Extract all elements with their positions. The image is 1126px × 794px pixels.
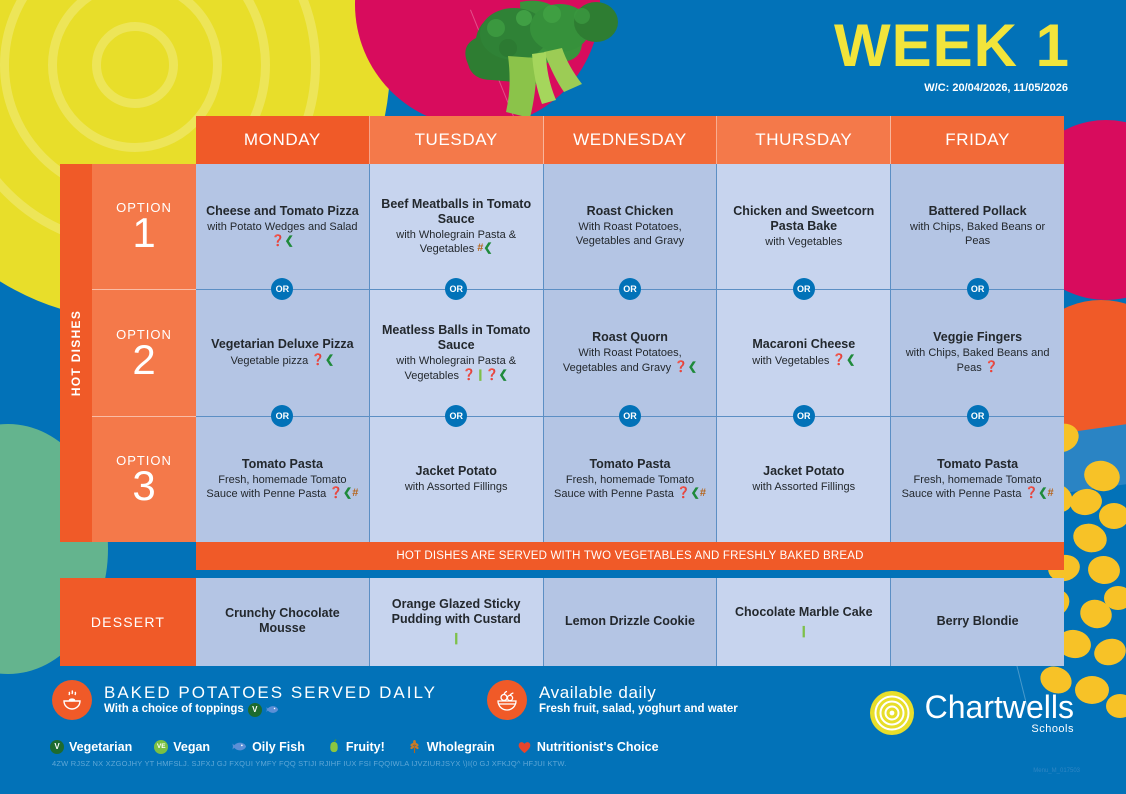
diet-mark-v: ❓ bbox=[677, 487, 691, 499]
option-number-1: 1 bbox=[132, 213, 155, 253]
dish-description: Fresh, homemade Tomato Sauce with Penne … bbox=[553, 474, 708, 502]
diet-mark-v: ❓ bbox=[674, 361, 688, 373]
menu-cell[interactable]: Tomato PastaFresh, homemade Tomato Sauce… bbox=[544, 417, 718, 542]
dish-name: Roast Chicken bbox=[587, 204, 674, 219]
diet-mark-v: ❓ bbox=[462, 369, 476, 381]
or-badge: OR bbox=[967, 278, 989, 300]
key-wholegrain: Wholegrain bbox=[407, 739, 495, 754]
diet-mark-v: ❓ bbox=[832, 354, 846, 366]
dessert-cell[interactable]: Crunchy Chocolate Mousse bbox=[196, 578, 370, 666]
menu-cell[interactable]: Beef Meatballs in Tomato Saucewith Whole… bbox=[370, 164, 544, 289]
menu-cell[interactable]: Jacket Potatowith Assorted Fillings bbox=[717, 417, 891, 542]
menu-cell[interactable]: Macaroni Cheesewith Vegetables ❓❮OR bbox=[717, 290, 891, 415]
option-3-row: Tomato PastaFresh, homemade Tomato Sauce… bbox=[196, 417, 1064, 542]
diet-mark-w: # bbox=[352, 487, 358, 499]
dish-name: Tomato Pasta bbox=[589, 457, 670, 472]
dessert-cell[interactable]: Chocolate Marble Cake ❙ bbox=[717, 578, 891, 666]
dessert-name: Crunchy Chocolate Mousse bbox=[204, 606, 361, 636]
dish-description: with Chips, Baked Beans or Peas bbox=[900, 221, 1055, 249]
option-label-2: OPTION 2 bbox=[92, 290, 196, 416]
menu-cell[interactable]: Cheese and Tomato Pizzawith Potato Wedge… bbox=[196, 164, 370, 289]
menu-cell[interactable]: Veggie Fingerswith Chips, Baked Beans an… bbox=[891, 290, 1064, 415]
dietary-key-row: V Vegetarian VE Vegan Oily Fish Fruity! bbox=[50, 739, 659, 754]
diet-mark-fruit: ❙ bbox=[452, 632, 461, 644]
key-nutritionist-label: Nutritionist's Choice bbox=[537, 740, 659, 754]
option-label-1: OPTION 1 bbox=[92, 164, 196, 290]
dessert-cell[interactable]: Berry Blondie bbox=[891, 578, 1064, 666]
dish-description: with Wholegrain Pasta & Vegetables ❓❙❓❮ bbox=[379, 355, 534, 383]
menu-grid: Cheese and Tomato Pizzawith Potato Wedge… bbox=[196, 164, 1064, 542]
dessert-cell[interactable]: Orange Glazed Sticky Pudding with Custar… bbox=[370, 578, 544, 666]
or-badge: OR bbox=[619, 405, 641, 427]
key-oily-fish: Oily Fish bbox=[232, 739, 305, 754]
menu-poster: WEEK 1 W/C: 20/04/2026, 11/05/2026 MONDA… bbox=[0, 0, 1126, 794]
dish-name: Macaroni Cheese bbox=[752, 337, 855, 352]
dessert-cell[interactable]: Lemon Drizzle Cookie bbox=[544, 578, 718, 666]
vegan-badge-icon: VE bbox=[154, 740, 168, 754]
footer-info-row: BAKED POTATOES SERVED DAILY With a choic… bbox=[52, 680, 738, 720]
week-title: WEEK 1 bbox=[834, 16, 1070, 76]
key-oily-fish-label: Oily Fish bbox=[252, 740, 305, 754]
diet-mark-ve: ❮ bbox=[499, 369, 508, 381]
diet-mark-w: # bbox=[700, 487, 706, 499]
or-badge: OR bbox=[445, 405, 467, 427]
dish-description: with Chips, Baked Beans and Peas ❓ bbox=[900, 347, 1055, 375]
dessert-name: Lemon Drizzle Cookie bbox=[565, 614, 695, 629]
diet-mark-w: # bbox=[1047, 487, 1053, 499]
diet-mark-v: ❓ bbox=[485, 369, 499, 381]
menu-cell[interactable]: Chicken and Sweetcorn Pasta Bakewith Veg… bbox=[717, 164, 891, 289]
chartwells-spiral-icon bbox=[869, 690, 915, 736]
dish-name: Jacket Potato bbox=[416, 464, 497, 479]
dessert-label: DESSERT bbox=[60, 578, 196, 666]
chartwells-logo: Chartwells Schools bbox=[869, 690, 1074, 736]
baked-potatoes-sub-text: With a choice of toppings bbox=[104, 703, 244, 717]
fruit-bowl-icon bbox=[487, 680, 527, 720]
key-vegan-label: Vegan bbox=[173, 740, 210, 754]
dish-name: Jacket Potato bbox=[763, 464, 844, 479]
diet-mark-v: ❓ bbox=[1025, 487, 1039, 499]
oily-fish-icon bbox=[266, 703, 279, 716]
dish-description: with Wholegrain Pasta & Vegetables #❮ bbox=[379, 229, 534, 257]
dish-name: Veggie Fingers bbox=[933, 330, 1022, 345]
option-number-2: 2 bbox=[132, 340, 155, 380]
dish-description: with Vegetables ❓❮ bbox=[752, 354, 855, 369]
day-header-thursday: THURSDAY bbox=[717, 116, 891, 164]
dish-name: Roast Quorn bbox=[592, 330, 668, 345]
hot-dishes-label-text: HOT DISHES bbox=[69, 310, 83, 396]
dessert-name: Berry Blondie bbox=[937, 614, 1019, 629]
dish-name: Chicken and Sweetcorn Pasta Bake bbox=[726, 204, 881, 234]
dessert-marks: ❙ bbox=[799, 622, 808, 640]
or-badge: OR bbox=[271, 278, 293, 300]
day-header-row: MONDAY TUESDAY WEDNESDAY THURSDAY FRIDAY bbox=[196, 116, 1064, 164]
wholegrain-icon bbox=[407, 739, 422, 754]
menu-code: Menu_M_017503 bbox=[1033, 768, 1080, 774]
option-label-3: OPTION 3 bbox=[92, 417, 196, 542]
day-header-tuesday: TUESDAY bbox=[370, 116, 544, 164]
dish-description: with Assorted Fillings bbox=[405, 481, 508, 495]
menu-cell[interactable]: Meatless Balls in Tomato Saucewith Whole… bbox=[370, 290, 544, 415]
key-vegetarian-label: Vegetarian bbox=[69, 740, 132, 754]
diet-mark-ve: ❮ bbox=[325, 354, 334, 366]
or-badge: OR bbox=[967, 405, 989, 427]
dessert-name: Chocolate Marble Cake bbox=[735, 605, 873, 620]
or-badge: OR bbox=[793, 278, 815, 300]
option-labels-column: OPTION 1 OPTION 2 OPTION 3 bbox=[92, 164, 196, 542]
diet-mark-ve: ❮ bbox=[343, 487, 352, 499]
dish-name: Tomato Pasta bbox=[937, 457, 1018, 472]
key-vegan: VE Vegan bbox=[154, 740, 210, 754]
hot-dishes-label: HOT DISHES bbox=[60, 164, 92, 542]
week-dates: W/C: 20/04/2026, 11/05/2026 bbox=[924, 82, 1068, 94]
dish-description: Fresh, homemade Tomato Sauce with Penne … bbox=[205, 474, 360, 502]
fruity-icon bbox=[327, 739, 341, 754]
diet-mark-ve: ❮ bbox=[688, 361, 697, 373]
dish-description: With Roast Potatoes, Vegetables and Grav… bbox=[553, 347, 708, 375]
diet-mark-ve: ❮ bbox=[285, 235, 294, 247]
day-header-monday: MONDAY bbox=[196, 116, 370, 164]
baked-potato-icon bbox=[52, 680, 92, 720]
dish-description: Fresh, homemade Tomato Sauce with Penne … bbox=[900, 474, 1055, 502]
diet-mark-v: ❓ bbox=[985, 361, 999, 373]
dish-name: Battered Pollack bbox=[929, 204, 1027, 219]
dish-name: Tomato Pasta bbox=[242, 457, 323, 472]
menu-cell[interactable]: Jacket Potatowith Assorted Fillings bbox=[370, 417, 544, 542]
dish-description: Vegetable pizza ❓❮ bbox=[231, 354, 335, 369]
vegetarian-badge-icon: V bbox=[50, 740, 64, 754]
available-daily-sub: Fresh fruit, salad, yoghurt and water bbox=[539, 703, 738, 717]
key-fruity: Fruity! bbox=[327, 739, 385, 754]
key-vegetarian: V Vegetarian bbox=[50, 740, 132, 754]
day-header-wednesday: WEDNESDAY bbox=[544, 116, 718, 164]
diet-mark-fruit: ❙ bbox=[799, 625, 808, 637]
diet-mark-ve: ❮ bbox=[846, 354, 855, 366]
menu-cell[interactable]: Roast ChickenWith Roast Potatoes, Vegeta… bbox=[544, 164, 718, 289]
dish-description: With Roast Potatoes, Vegetables and Grav… bbox=[553, 221, 708, 249]
key-fruity-label: Fruity! bbox=[346, 740, 385, 754]
key-nutritionist-choice: Nutritionist's Choice bbox=[517, 740, 659, 754]
dish-name: Cheese and Tomato Pizza bbox=[206, 204, 359, 219]
diet-mark-v: ❓ bbox=[271, 235, 285, 247]
dessert-name: Orange Glazed Sticky Pudding with Custar… bbox=[378, 597, 535, 627]
baked-potatoes-title: BAKED POTATOES SERVED DAILY bbox=[104, 683, 437, 703]
diet-mark-v: ❓ bbox=[329, 487, 343, 499]
dessert-section: DESSERT Crunchy Chocolate MousseOrange G… bbox=[60, 578, 1064, 666]
diet-mark-ve: ❮ bbox=[483, 242, 492, 254]
baked-potatoes-sub: With a choice of toppings V bbox=[104, 703, 437, 717]
or-badge: OR bbox=[619, 278, 641, 300]
served-with-banner: HOT DISHES ARE SERVED WITH TWO VEGETABLE… bbox=[196, 542, 1064, 570]
available-daily-title: Available daily bbox=[539, 683, 738, 703]
day-header-friday: FRIDAY bbox=[891, 116, 1064, 164]
diet-mark-ve: ❮ bbox=[691, 487, 700, 499]
dish-name: Meatless Balls in Tomato Sauce bbox=[379, 323, 534, 353]
dessert-cells: Crunchy Chocolate MousseOrange Glazed St… bbox=[196, 578, 1064, 666]
or-badge: OR bbox=[271, 405, 293, 427]
dish-name: Beef Meatballs in Tomato Sauce bbox=[379, 197, 534, 227]
menu-cell[interactable]: Roast QuornWith Roast Potatoes, Vegetabl… bbox=[544, 290, 718, 415]
dessert-marks: ❙ bbox=[452, 629, 461, 647]
oily-fish-icon bbox=[232, 739, 247, 754]
menu-cell[interactable]: Vegetarian Deluxe PizzaVegetable pizza ❓… bbox=[196, 290, 370, 415]
nutritionist-choice-icon bbox=[517, 740, 532, 754]
or-badge: OR bbox=[793, 405, 815, 427]
hot-dishes-section: HOT DISHES OPTION 1 OPTION 2 OPTION 3 Ch… bbox=[60, 164, 1064, 542]
vegetarian-badge-icon: V bbox=[248, 703, 262, 717]
menu-cell[interactable]: Battered Pollackwith Chips, Baked Beans … bbox=[891, 164, 1064, 289]
option-1-row: Cheese and Tomato Pizzawith Potato Wedge… bbox=[196, 164, 1064, 290]
pink-circle-decoration bbox=[355, 0, 600, 127]
option-2-row: Vegetarian Deluxe PizzaVegetable pizza ❓… bbox=[196, 290, 1064, 416]
diet-mark-v: ❓ bbox=[311, 354, 325, 366]
chartwells-wordmark: Chartwells bbox=[925, 691, 1074, 723]
dish-description: with Potato Wedges and Salad ❓❮ bbox=[205, 221, 360, 249]
or-badge: OR bbox=[445, 278, 467, 300]
disclaimer-text: 4ZW RJSZ NX XZGOJHY YT HMFSLJ. SJFXJ GJ … bbox=[52, 759, 567, 768]
baked-potatoes-info: BAKED POTATOES SERVED DAILY With a choic… bbox=[52, 680, 437, 720]
available-daily-info: Available daily Fresh fruit, salad, yogh… bbox=[487, 680, 738, 720]
menu-cell[interactable]: Tomato PastaFresh, homemade Tomato Sauce… bbox=[891, 417, 1064, 542]
dish-description: with Assorted Fillings bbox=[752, 481, 855, 495]
key-wholegrain-label: Wholegrain bbox=[427, 740, 495, 754]
option-number-3: 3 bbox=[132, 466, 155, 506]
menu-cell[interactable]: Tomato PastaFresh, homemade Tomato Sauce… bbox=[196, 417, 370, 542]
dish-description: with Vegetables bbox=[765, 236, 842, 250]
diet-mark-fruit: ❙ bbox=[476, 369, 485, 381]
dish-name: Vegetarian Deluxe Pizza bbox=[211, 337, 353, 352]
